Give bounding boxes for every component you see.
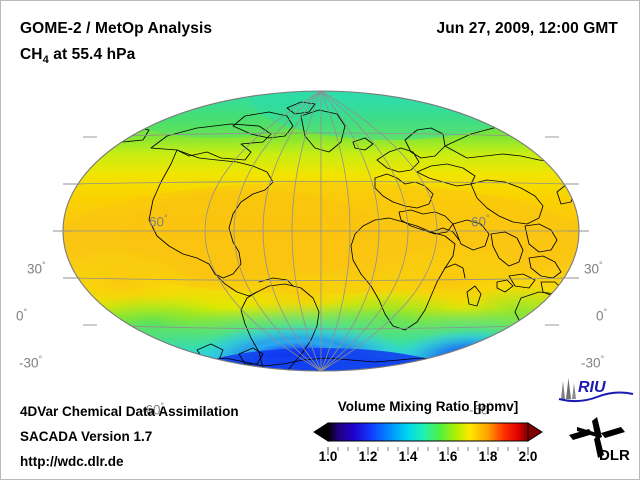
figure-frame: GOME-2 / MetOp Analysis CH4 at 55.4 hPa … bbox=[0, 0, 640, 480]
species-level-label: CH4 at 55.4 hPa bbox=[20, 46, 135, 66]
lat-label-left-0: 0° bbox=[16, 307, 27, 324]
lat-label-left-60: 60° bbox=[149, 213, 168, 230]
data-field bbox=[49, 86, 585, 381]
species-level-text: at 55.4 hPa bbox=[49, 46, 136, 63]
timestamp-label: Jun 27, 2009, 12:00 GMT bbox=[437, 20, 619, 38]
colorbar-gradient-box bbox=[312, 421, 544, 443]
colorbar-tick-1-6: 1.6 bbox=[439, 449, 458, 464]
page-title: GOME-2 / MetOp Analysis bbox=[20, 20, 212, 38]
colorbar-title: Volume Mixing Ratio [ppmv] bbox=[312, 399, 544, 414]
lat-label-left-minus30: -30° bbox=[19, 354, 42, 371]
colorbar-extend-left bbox=[314, 423, 328, 441]
colorbar-ramp bbox=[328, 423, 528, 441]
dlr-logo: DLR bbox=[563, 413, 635, 463]
colorbar-tick-1-0: 1.0 bbox=[319, 449, 338, 464]
colorbar-tick-1-8: 1.8 bbox=[479, 449, 498, 464]
lat-label-right-30: 30° bbox=[584, 260, 603, 277]
lat-label-right-0: 0° bbox=[596, 307, 607, 324]
colorbar-tick-1-4: 1.4 bbox=[399, 449, 418, 464]
riu-wordmark: RIU bbox=[578, 379, 606, 396]
footer-line-assimilation: 4DVar Chemical Data Assimilation bbox=[20, 404, 239, 419]
world-map: 60° 30° 0° -30° -60° 60° 30° 0° -30° -60… bbox=[1, 86, 640, 381]
lat-label-right-minus30: -30° bbox=[581, 354, 604, 371]
footer-line-version: SACADA Version 1.7 bbox=[20, 429, 152, 444]
species-formula-base: CH bbox=[20, 46, 43, 63]
colorbar-ticklabels: 1.01.21.41.61.82.0 bbox=[312, 449, 544, 469]
riu-logo: RIU bbox=[557, 377, 635, 403]
mollweide-map-svg bbox=[1, 86, 640, 381]
riu-towers-icon bbox=[561, 378, 576, 399]
footer-line-url[interactable]: http://wdc.dlr.de bbox=[20, 454, 124, 469]
colorbar-tick-2-0: 2.0 bbox=[519, 449, 538, 464]
lat-label-left-30: 30° bbox=[27, 260, 46, 277]
colorbar-extend-right bbox=[528, 423, 542, 441]
colorbar-tick-1-2: 1.2 bbox=[359, 449, 378, 464]
colorbar-svg bbox=[312, 421, 544, 443]
colorbar: Volume Mixing Ratio [ppmv] 1.01.21.41.61… bbox=[312, 399, 544, 471]
dlr-wordmark: DLR bbox=[599, 447, 630, 463]
lat-label-right-60: 60° bbox=[471, 213, 490, 230]
